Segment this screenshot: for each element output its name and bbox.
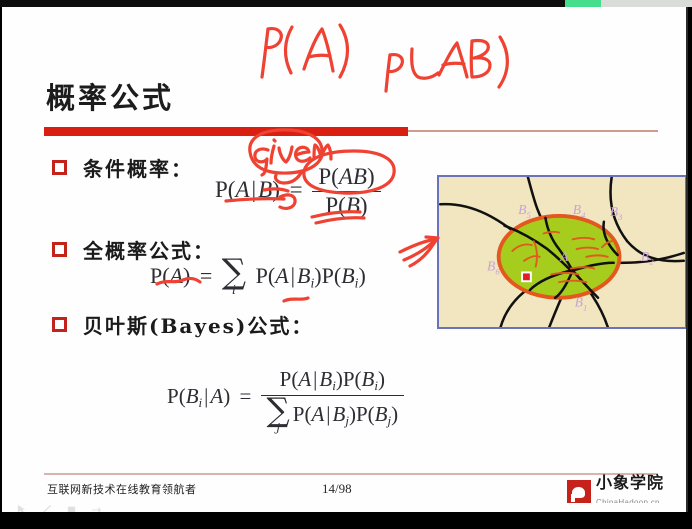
- pointer-tool-icon[interactable]: [16, 502, 27, 512]
- venn-svg: A B1 B2 B3 B4 B5 B6: [439, 177, 685, 327]
- red-square-marker: [522, 272, 531, 281]
- region-label-b5: B5: [518, 202, 531, 220]
- progress-played: [0, 0, 565, 7]
- arrow-to-diagram: [400, 237, 438, 266]
- formula-conditional-probability: P(A|B) = P(AB) P(B): [215, 164, 381, 219]
- annotation-toolbar[interactable]: [4, 503, 688, 512]
- player-bottom-letterbox: [0, 512, 692, 529]
- page-number: 14/98: [322, 481, 352, 497]
- slide-canvas: 概率公式 条件概率： P(A|B) = P(AB) P(B) 全概率公式： P(…: [2, 7, 688, 512]
- region-label-b1: B1: [575, 295, 588, 313]
- bullet-label: 贝叶斯(Bayes)公式：: [83, 310, 313, 339]
- brand-name: 小象学院: [596, 473, 664, 492]
- pa-handwriting: [262, 25, 348, 77]
- summation-icon: ∑j: [267, 397, 290, 423]
- video-progress-bar[interactable]: [0, 0, 692, 7]
- formula-bayes: P(Bi|A) = P(A|Bi)P(Bi) ∑jP(A|Bj)P(Bj): [167, 367, 404, 429]
- footer-tagline: 互联网新技术在线教育领航者: [47, 481, 197, 497]
- pab-handwriting: [386, 37, 507, 91]
- page-title: 概率公式: [46, 75, 174, 117]
- square-bullet-icon: [52, 242, 67, 257]
- pen-tool-icon[interactable]: [41, 502, 52, 512]
- arrow-tool-icon[interactable]: [91, 502, 102, 512]
- video-player: 概率公式 条件概率： P(A|B) = P(AB) P(B) 全概率公式： P(…: [0, 0, 692, 529]
- event-a-label: A: [559, 249, 569, 264]
- progress-buffer: [565, 0, 601, 7]
- progress-track[interactable]: [601, 0, 692, 7]
- bayes-squiggle: [284, 298, 308, 301]
- region-label-b2: B2: [641, 249, 654, 267]
- formula-total-probability: P(A) = ∑i P(A|Bi)P(Bi): [150, 259, 366, 291]
- title-rule-thick: [44, 127, 408, 136]
- footer-divider: [44, 473, 658, 475]
- region-label-b3: B3: [610, 204, 623, 222]
- bullet-item-conditional-probability: 条件概率：: [52, 153, 193, 182]
- square-bullet-icon: [52, 160, 67, 175]
- bullet-label: 条件概率：: [83, 153, 193, 182]
- square-bullet-icon: [52, 317, 67, 332]
- bullet-item-bayes-formula: 贝叶斯(Bayes)公式：: [52, 310, 313, 339]
- title-rule-thin: [408, 130, 658, 132]
- summation-icon: ∑i: [222, 259, 246, 286]
- partition-venn-diagram: A B1 B2 B3 B4 B5 B6: [437, 175, 687, 329]
- square-tool-icon[interactable]: [66, 502, 77, 512]
- elephant-logo-icon: [567, 480, 591, 504]
